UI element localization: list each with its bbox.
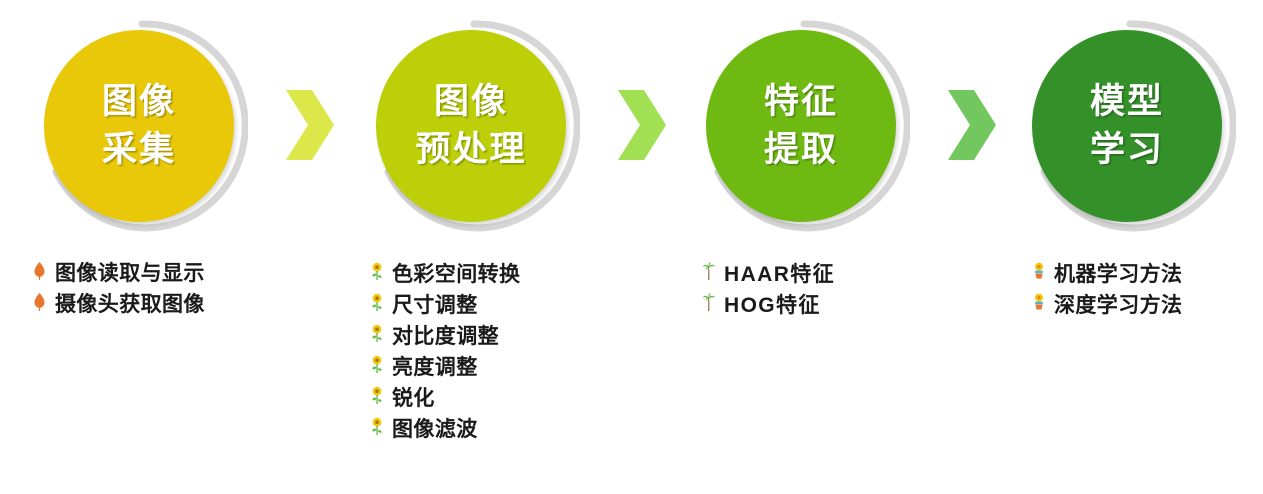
list-item-label: 对比度调整	[392, 325, 499, 349]
list-item-label: HAAR特征	[724, 263, 835, 287]
leaf-icon	[33, 262, 55, 288]
detail-list-image-preprocessing: 色彩空间转换尺寸调整对比度调整亮度调整锐化图像滤波	[370, 262, 670, 448]
stage-circle-row: 图像 采集 图像 预处理 特征	[0, 0, 1263, 250]
list-item-label: 图像滤波	[392, 418, 478, 442]
list-item-label: 亮度调整	[392, 356, 478, 380]
stage-title-line-1: 特征	[764, 78, 838, 126]
list-item[interactable]: HOG特征	[702, 293, 1002, 317]
sunflower-icon	[370, 262, 392, 289]
sunflower-icon	[370, 417, 392, 444]
list-item-label: 机器学习方法	[1054, 263, 1182, 287]
stage-circle-body[interactable]: 模型 学习	[1032, 30, 1222, 222]
list-item-label: 深度学习方法	[1054, 294, 1182, 318]
stage-title-line-2: 提取	[764, 126, 838, 174]
detail-list-model-learning: 机器学习方法深度学习方法	[1032, 262, 1263, 324]
stage-circle-body[interactable]: 图像 预处理	[376, 30, 566, 222]
stage-node-image-acquisition[interactable]: 图像 采集	[36, 18, 248, 234]
list-item[interactable]: HAAR特征	[702, 262, 1002, 286]
palm-tree-icon	[702, 293, 724, 320]
stage-node-feature-extraction[interactable]: 特征 提取	[698, 18, 910, 234]
process-flow-diagram: 图像 采集 图像 预处理 特征	[0, 0, 1263, 494]
sunflower-icon	[370, 293, 392, 320]
stage-detail-lists: 图像读取与显示摄像头获取图像 色彩空间转换尺寸调整对比度调整亮度调整锐化图像滤波…	[0, 262, 1263, 494]
list-item-label: 色彩空间转换	[392, 263, 520, 287]
sunflower-icon	[370, 386, 392, 413]
chevron-right-icon-1	[282, 88, 338, 162]
sunflower-icon	[370, 355, 392, 382]
list-item[interactable]: 摄像头获取图像	[33, 293, 333, 317]
stage-title-line-1: 图像	[102, 78, 176, 126]
list-item[interactable]: 亮度调整	[370, 355, 670, 379]
list-item[interactable]: 机器学习方法	[1032, 262, 1263, 286]
list-item-label: 锐化	[392, 387, 435, 411]
stage-node-model-learning[interactable]: 模型 学习	[1024, 18, 1236, 234]
list-item-label: 尺寸调整	[392, 294, 478, 318]
list-item[interactable]: 图像读取与显示	[33, 262, 333, 286]
potted-plant-icon	[1032, 262, 1054, 289]
stage-circle-body[interactable]: 图像 采集	[44, 30, 234, 222]
list-item[interactable]: 尺寸调整	[370, 293, 670, 317]
leaf-icon	[33, 293, 55, 319]
list-item[interactable]: 锐化	[370, 386, 670, 410]
list-item-label: 摄像头获取图像	[55, 293, 205, 317]
list-item[interactable]: 色彩空间转换	[370, 262, 670, 286]
list-item[interactable]: 对比度调整	[370, 324, 670, 348]
stage-circle-body[interactable]: 特征 提取	[706, 30, 896, 222]
stage-title-line-2: 采集	[102, 126, 176, 174]
detail-list-image-acquisition: 图像读取与显示摄像头获取图像	[33, 262, 333, 324]
potted-plant-icon	[1032, 293, 1054, 320]
stage-title-line-2: 预处理	[415, 126, 526, 174]
palm-tree-icon	[702, 262, 724, 289]
stage-title-line-2: 学习	[1090, 126, 1164, 174]
stage-title-line-1: 图像	[434, 78, 508, 126]
list-item-label: 图像读取与显示	[55, 262, 205, 286]
sunflower-icon	[370, 324, 392, 351]
chevron-right-icon-3	[944, 88, 1000, 162]
stage-node-image-preprocessing[interactable]: 图像 预处理	[368, 18, 580, 234]
stage-title-line-1: 模型	[1090, 78, 1164, 126]
list-item-label: HOG特征	[724, 294, 821, 318]
list-item[interactable]: 图像滤波	[370, 417, 670, 441]
chevron-right-icon-2	[614, 88, 670, 162]
list-item[interactable]: 深度学习方法	[1032, 293, 1263, 317]
detail-list-feature-extraction: HAAR特征HOG特征	[702, 262, 1002, 324]
